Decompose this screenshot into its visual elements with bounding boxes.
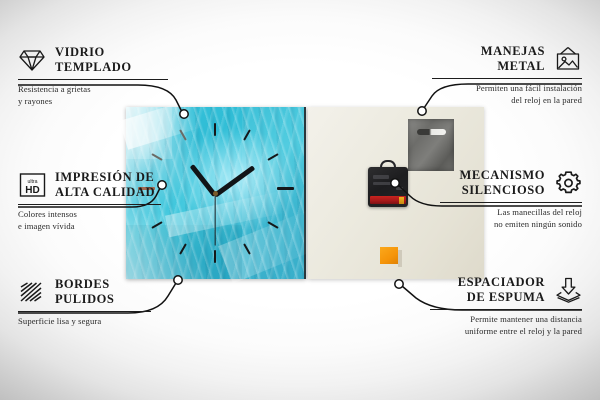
mechanism-detail (373, 175, 389, 179)
clock-tick (214, 123, 216, 136)
feature-title: MECANISMO SILENCIOSO (459, 168, 545, 199)
clock-tick (179, 243, 187, 254)
clock-battery (370, 196, 406, 204)
feature-description: Permite mantener una distancia uniforme … (430, 310, 582, 338)
feature-manejas-metal: MANEJAS METAL Permiten una fácil instala… (432, 44, 582, 107)
feature-vidrio-templado: VIDRIO TEMPLADO Resistencia a grietas y … (18, 45, 168, 108)
feature-title: BORDES PULIDOS (55, 277, 114, 308)
diagonal-stripes-icon (18, 278, 46, 306)
feature-espaciador-espuma: ESPACIADOR DE ESPUMA Permite mantener un… (430, 275, 582, 338)
feature-title: VIDRIO TEMPLADO (55, 45, 132, 76)
mechanism-detail (396, 187, 403, 190)
clock-tick (214, 250, 216, 263)
feature-description: Resistencia a grietas y rayones (18, 80, 168, 108)
wire-endpoint-espaciador (395, 280, 403, 288)
feature-bordes-pulidos: BORDES PULIDOS Superficie lisa y segura (18, 277, 151, 327)
clock-center-cap (213, 191, 218, 196)
feature-description: Colores intensos e imagen vívida (18, 205, 161, 233)
feature-impresion-alta-calidad: ultra HD IMPRESIÓN DE ALTA CALIDAD Color… (18, 170, 161, 233)
face-shade-b (242, 107, 306, 279)
clock-tick (267, 221, 278, 229)
face-shade-c (126, 225, 242, 279)
hanger-slot (417, 129, 446, 135)
clock-tick (179, 129, 187, 140)
infographic-canvas: VIDRIO TEMPLADO Resistencia a grietas y … (0, 0, 600, 400)
feature-description: Las manecillas del reloj no emiten ningú… (440, 203, 582, 231)
feature-title: IMPRESIÓN DE ALTA CALIDAD (55, 170, 155, 201)
feature-header: MANEJAS METAL (432, 44, 582, 78)
feature-description: Superficie lisa y segura (18, 312, 151, 327)
feature-header: BORDES PULIDOS (18, 277, 151, 311)
ultra-hd-badge-icon: ultra HD (18, 171, 46, 199)
foam-spacer-shadow (398, 250, 402, 267)
framed-picture-hanging-icon (554, 45, 582, 73)
product-photo (126, 107, 484, 279)
diamond-icon (18, 46, 46, 74)
feature-title: MANEJAS METAL (481, 44, 545, 75)
battery-terminal (399, 197, 404, 204)
foam-spacer (380, 247, 398, 264)
face-sheen-b (165, 191, 287, 237)
clock-tick (243, 129, 251, 140)
feature-header: MECANISMO SILENCIOSO (440, 168, 582, 202)
clock-minute-hand (214, 165, 256, 197)
feature-title: ESPACIADOR DE ESPUMA (458, 275, 545, 306)
clock-tick (243, 243, 251, 254)
clock-tick (267, 153, 278, 161)
clock-mechanism (368, 167, 408, 207)
metal-hanger-plate (408, 119, 454, 171)
feature-header: ultra HD IMPRESIÓN DE ALTA CALIDAD (18, 170, 161, 204)
feature-header: VIDRIO TEMPLADO (18, 45, 168, 79)
mechanism-detail (373, 182, 395, 185)
feature-header: ESPACIADOR DE ESPUMA (430, 275, 582, 309)
clock-second-hand (214, 194, 215, 246)
svg-text:HD: HD (25, 185, 39, 196)
clock-tick (151, 153, 162, 161)
arrow-down-layers-icon (554, 276, 582, 304)
mechanism-hook (380, 160, 396, 169)
gear-icon (554, 169, 582, 197)
feature-mecanismo-silencioso: MECANISMO SILENCIOSO Las manecillas del … (440, 168, 582, 231)
face-shade-a (126, 107, 172, 159)
clock-tick (277, 187, 294, 190)
feature-description: Permiten una fácil instalación del reloj… (432, 79, 582, 107)
